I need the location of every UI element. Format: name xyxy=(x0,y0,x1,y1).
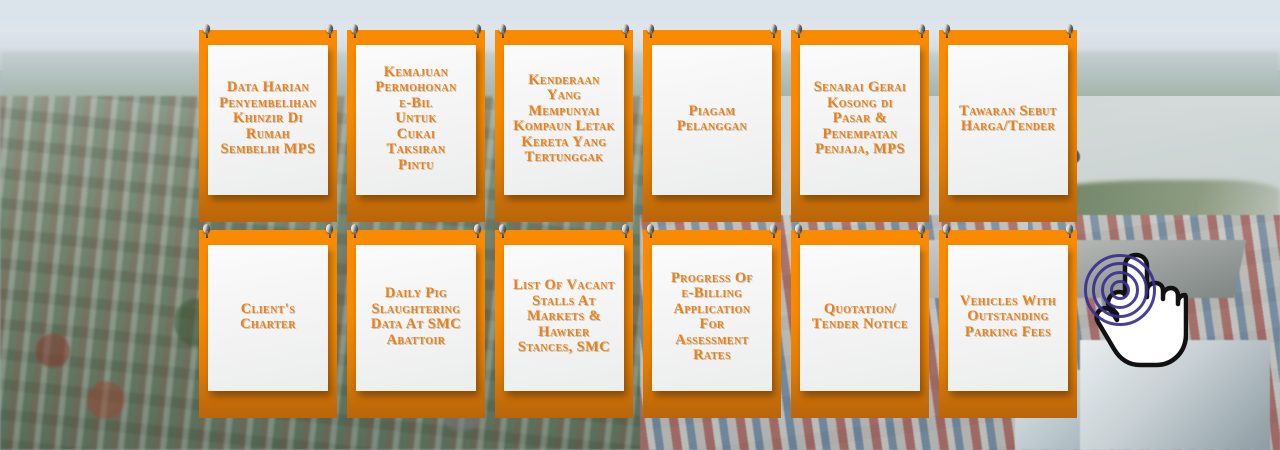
tile-card[interactable]: Kenderaan Yang Mempunyai Kompaun Letak K… xyxy=(504,45,624,195)
tile-title: Progress Of e-Billing Application For As… xyxy=(671,271,753,364)
tile-card[interactable]: Tawaran Sebut Harga/Tender xyxy=(948,45,1068,195)
tile-title: Data Harian Penyembelihan Khinzir Di Rum… xyxy=(219,80,316,158)
tile-card[interactable]: Piagam Pelanggan xyxy=(652,45,772,195)
service-tile[interactable]: List Of Vacant Stalls At Markets & Hawke… xyxy=(495,230,633,418)
tile-title: Quotation/ Tender Notice xyxy=(812,302,908,333)
tile-row-bottom: Client's Charter Daily Pig Slaughtering … xyxy=(199,230,1077,418)
tile-title: Tawaran Sebut Harga/Tender xyxy=(959,104,1057,135)
service-tile[interactable]: Client's Charter xyxy=(199,230,337,418)
tile-card[interactable]: Daily Pig Slaughtering Data At SMC Abatt… xyxy=(356,245,476,391)
tile-title: Kemajuan Permohonan e-Bil Untuk Cukai Ta… xyxy=(375,65,456,174)
service-tile[interactable]: Data Harian Penyembelihan Khinzir Di Rum… xyxy=(199,30,337,222)
service-tile[interactable]: Daily Pig Slaughtering Data At SMC Abatt… xyxy=(347,230,485,418)
tile-card[interactable]: Client's Charter xyxy=(208,245,328,391)
service-tile[interactable]: Kemajuan Permohonan e-Bil Untuk Cukai Ta… xyxy=(347,30,485,222)
service-tile[interactable]: Senarai Gerai Kosong di Pasar & Penempat… xyxy=(791,30,929,222)
tile-card[interactable]: Senarai Gerai Kosong di Pasar & Penempat… xyxy=(800,45,920,195)
foreground-building xyxy=(1080,340,1270,450)
service-tile[interactable]: Kenderaan Yang Mempunyai Kompaun Letak K… xyxy=(495,30,633,222)
tile-card[interactable]: Progress Of e-Billing Application For As… xyxy=(652,245,772,391)
tile-title: Client's Charter xyxy=(240,302,296,333)
tile-card[interactable]: Quotation/ Tender Notice xyxy=(800,245,920,391)
tile-title: Daily Pig Slaughtering Data At SMC Abatt… xyxy=(371,286,461,348)
tile-title: Kenderaan Yang Mempunyai Kompaun Letak K… xyxy=(513,73,615,166)
tile-title: Senarai Gerai Kosong di Pasar & Penempat… xyxy=(814,80,907,158)
service-tile[interactable]: Progress Of e-Billing Application For As… xyxy=(643,230,781,418)
tile-row-top: Data Harian Penyembelihan Khinzir Di Rum… xyxy=(199,30,1077,222)
service-tile[interactable]: Quotation/ Tender Notice xyxy=(791,230,929,418)
tile-card[interactable]: Data Harian Penyembelihan Khinzir Di Rum… xyxy=(208,45,328,195)
tile-title: Vehicles With Outstanding Parking Fees xyxy=(960,294,1056,341)
tile-title: List Of Vacant Stalls At Markets & Hawke… xyxy=(513,278,615,356)
tile-title: Piagam Pelanggan xyxy=(677,104,747,135)
page-stage: Data Harian Penyembelihan Khinzir Di Rum… xyxy=(0,0,1280,450)
tile-card[interactable]: Kemajuan Permohonan e-Bil Untuk Cukai Ta… xyxy=(356,45,476,195)
service-tile[interactable]: Vehicles With Outstanding Parking Fees xyxy=(939,230,1077,418)
tile-card[interactable]: List Of Vacant Stalls At Markets & Hawke… xyxy=(504,245,624,391)
service-tile[interactable]: Piagam Pelanggan xyxy=(643,30,781,222)
tile-card[interactable]: Vehicles With Outstanding Parking Fees xyxy=(948,245,1068,391)
service-tile[interactable]: Tawaran Sebut Harga/Tender xyxy=(939,30,1077,222)
